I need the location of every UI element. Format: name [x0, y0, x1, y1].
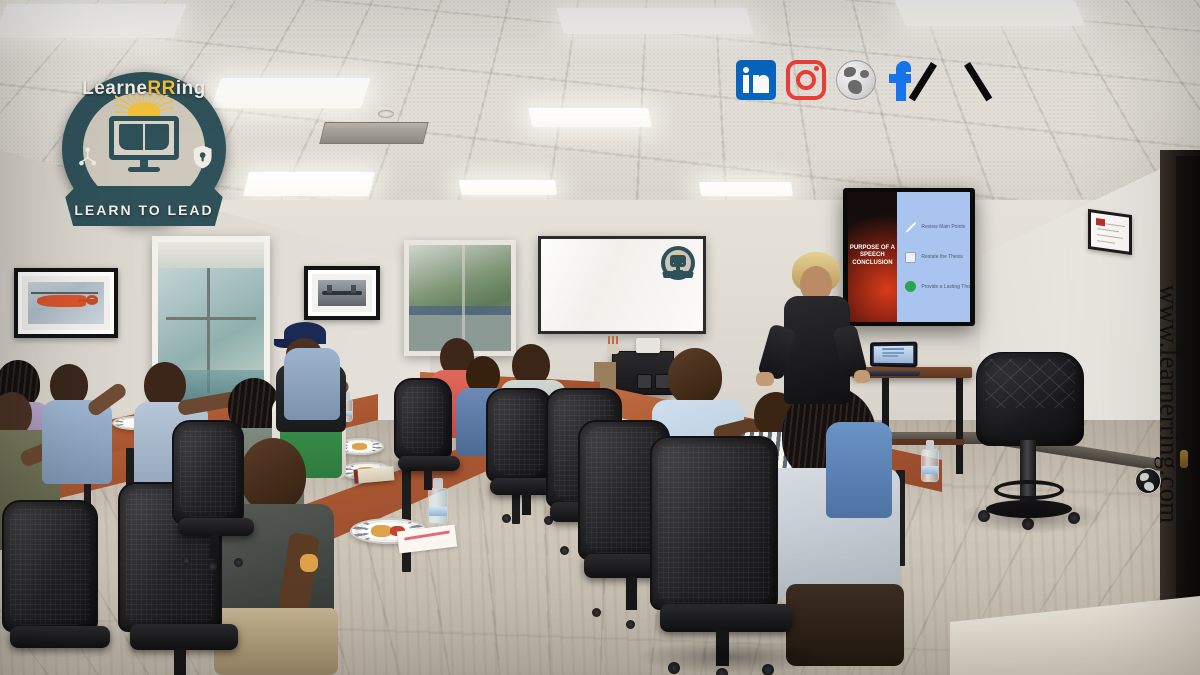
chair-mesh: [10, 507, 90, 625]
ceiling-light-panel: [528, 108, 652, 127]
whiteboard: [538, 236, 706, 334]
chair-mesh: [494, 395, 544, 475]
network-node-icon: [77, 143, 98, 171]
chair-backrest[interactable]: [2, 500, 98, 632]
chair-mesh: [658, 443, 770, 603]
slide-bullet-text: Provide a Lasting Thought: [921, 284, 970, 290]
slide-bullets-panel: Review Main Points Restate the Thesis Pr…: [897, 192, 970, 322]
whiteboard-marker-tray: [570, 331, 638, 334]
slide-bullet-text: Review Main Points: [921, 224, 965, 230]
slide-bullet: Provide a Lasting Thought: [905, 281, 964, 292]
presentation-screen: PURPOSE OF A SPEECH CONCLUSION Review Ma…: [843, 188, 975, 326]
chair-shadow: [636, 640, 826, 674]
chair-caster: [560, 546, 569, 555]
chair-gas-cylinder: [210, 534, 219, 558]
chair-caster: [182, 556, 191, 565]
certificate-text-line: [1097, 228, 1119, 232]
chair-seat[interactable]: [10, 626, 110, 648]
bottle-cap: [926, 440, 935, 450]
framed-osprey-photo: [304, 266, 380, 320]
logo-emblem: [108, 106, 180, 177]
student-torso: [826, 422, 892, 518]
office-chair[interactable]: [2, 500, 120, 675]
learnerring-logo: LearneRRing LEARN TO LEAD: [62, 72, 226, 226]
certificate-seal: [1096, 218, 1105, 226]
social-icons-bar: [736, 58, 968, 102]
presenter-hand: [854, 370, 870, 383]
chair-mesh: [180, 427, 236, 517]
chair-caster: [208, 562, 217, 571]
bottle-label: [922, 466, 938, 474]
chair-gas-cylinder: [626, 576, 637, 610]
student-head: [668, 348, 722, 406]
website-url-overlay: www.learnerring.com: [1140, 164, 1198, 644]
adult-torso: [284, 348, 340, 420]
office-chair[interactable]: [172, 420, 258, 570]
chair-caster: [626, 620, 635, 629]
laptop-lid: [870, 342, 917, 368]
podium-leg: [956, 378, 963, 474]
laptop-screen: [874, 346, 914, 364]
logo-monitor-base: [128, 167, 160, 171]
chair-seat[interactable]: [398, 456, 460, 471]
laptop-base: [865, 371, 920, 376]
chair-seat[interactable]: [130, 624, 238, 650]
food-item: [352, 443, 367, 449]
logo-name-part2: ing: [176, 78, 206, 99]
food-in-hand: [300, 554, 318, 572]
chair-seat[interactable]: [660, 604, 792, 632]
whiteboard-logo-seal: [661, 246, 695, 280]
framed-helicopter-photo: [14, 268, 118, 338]
supply-cup: [607, 343, 619, 354]
water-bottle: [921, 440, 939, 482]
aircraft-image: [318, 280, 366, 306]
stool-seat[interactable]: [976, 352, 1084, 446]
chair-gas-cylinder: [522, 493, 531, 515]
slide-bullet-text: Restate the Thesis: [921, 254, 963, 260]
student: [826, 408, 898, 518]
ceiling-light-panel: [894, 0, 1086, 26]
linkedin-icon[interactable]: [736, 60, 776, 100]
slide-content: PURPOSE OF A SPEECH CONCLUSION Review Ma…: [848, 192, 970, 322]
chair-mesh: [402, 385, 444, 453]
slide-bullet: Review Main Points: [905, 222, 964, 233]
document-icon: [905, 252, 916, 263]
chair-caster: [502, 514, 511, 523]
classroom-photo: PURPOSE OF A SPEECH CONCLUSION Review Ma…: [0, 0, 1200, 675]
chair-backrest[interactable]: [486, 388, 552, 482]
food-item: [371, 525, 392, 537]
instagram-icon[interactable]: [786, 60, 826, 100]
stool-quilting: [985, 359, 1075, 408]
stool-shadow: [956, 500, 1106, 534]
laptop: [869, 342, 917, 376]
chair-backrest[interactable]: [172, 420, 244, 524]
ceiling-light-panel: [556, 8, 753, 34]
certificate-text-line: [1097, 234, 1123, 239]
globe-watermark-icon: [1135, 468, 1161, 494]
shield-icon: [192, 143, 213, 171]
slide-bullet: Restate the Thesis: [905, 252, 964, 263]
chair-backrest[interactable]: [650, 436, 778, 610]
adult: [284, 330, 344, 420]
presenter: [778, 252, 860, 404]
stool-footring: [994, 480, 1064, 500]
seal-banner: [662, 271, 693, 278]
helicopter-image: [28, 282, 104, 324]
pencil-icon: [905, 222, 916, 233]
office-chair[interactable]: [394, 378, 464, 498]
logo-sun-rays: [115, 95, 173, 113]
student: [46, 364, 120, 484]
ceiling-light-panel: [459, 180, 557, 195]
ceiling-light-panel: [211, 78, 371, 108]
x-twitter-icon[interactable]: [926, 59, 968, 101]
green-dot-icon: [905, 281, 916, 292]
pencils: [608, 336, 618, 344]
ceiling-light-panel: [0, 4, 187, 38]
logo-tagline: LEARN TO LEAD: [72, 202, 216, 218]
chair-caster: [592, 608, 601, 617]
chair-gas-cylinder: [424, 470, 432, 490]
bottle-label: [429, 507, 447, 516]
certificate-text-line: [1097, 240, 1115, 244]
globe-icon[interactable]: [836, 60, 876, 100]
smoke-detector-icon: [378, 110, 394, 118]
chair-gas-cylinder: [174, 648, 186, 675]
ceiling-light-panel: [699, 182, 793, 196]
ceiling-air-vent: [319, 122, 428, 144]
window-mullion: [166, 317, 255, 320]
framed-certificate: [1088, 209, 1132, 255]
chair-caster: [234, 558, 243, 567]
bottle-body: [921, 449, 939, 482]
chair-backrest[interactable]: [394, 378, 452, 460]
logo-book-spine: [143, 124, 146, 149]
ceiling-light-panel: [243, 172, 375, 196]
presenter-hand: [756, 372, 774, 386]
